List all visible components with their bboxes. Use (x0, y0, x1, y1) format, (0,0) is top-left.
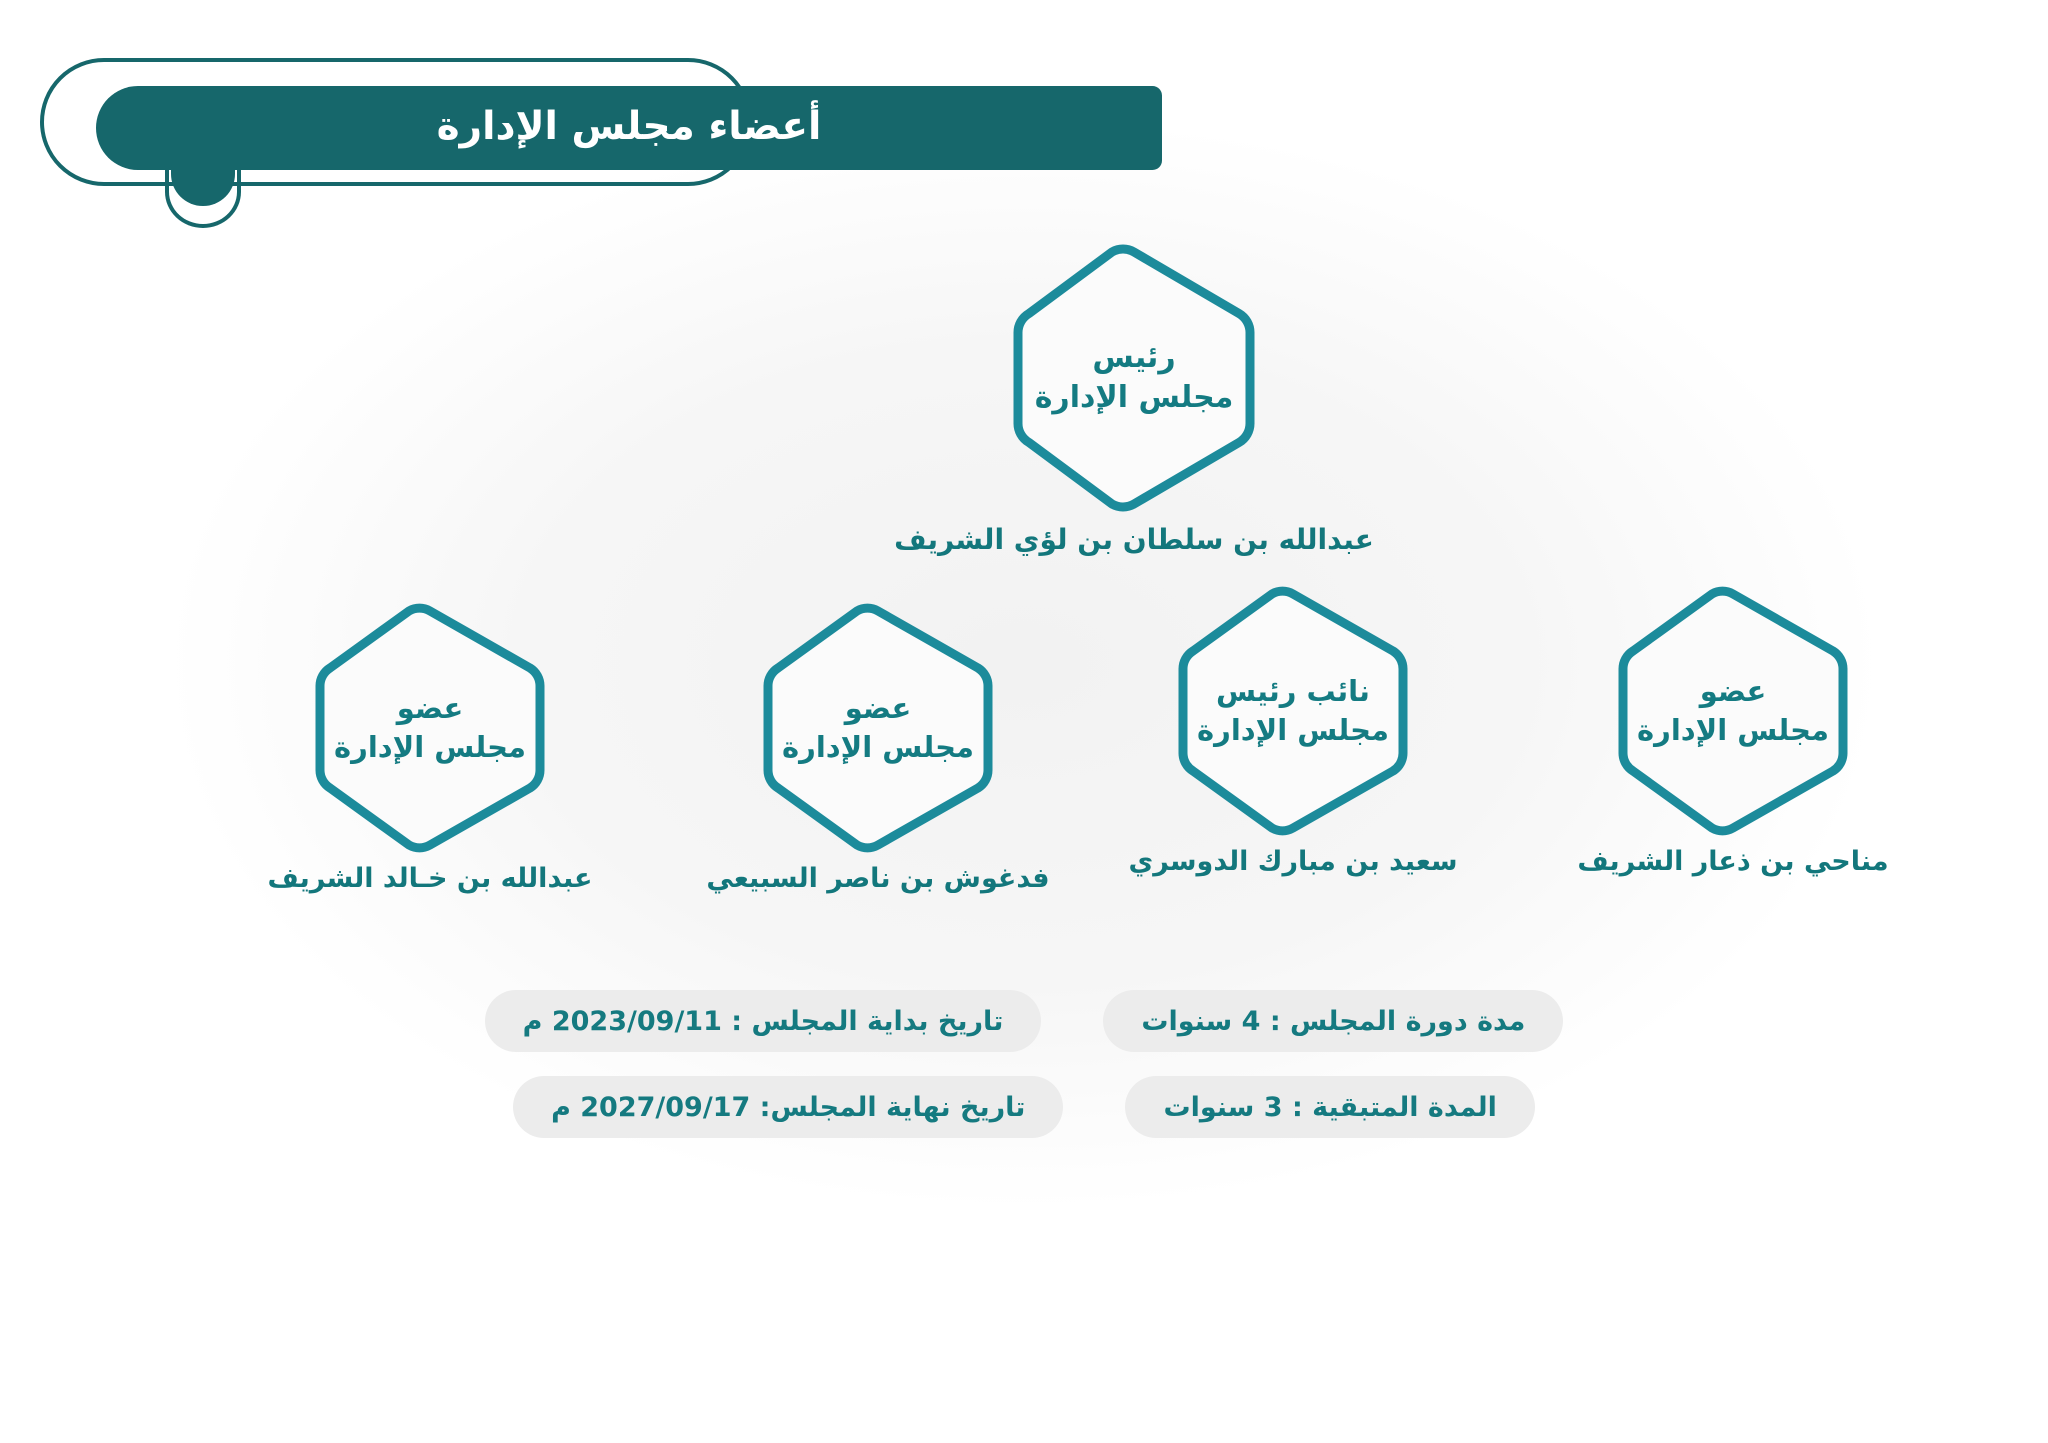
hexagon-shape: عضو مجلس الإدارة (311, 602, 549, 854)
end-date-pill: تاريخ نهاية المجلس: 2027/09/17 م (513, 1076, 1063, 1138)
title-bar: أعضاء مجلس الإدارة (96, 86, 1162, 170)
org-node-person-name: عبدالله بن خـالد الشريف (268, 864, 593, 894)
hexagon-shape: عضو مجلس الإدارة (759, 602, 997, 854)
org-node-vice-chairman[interactable]: نائب رئيس مجلس الإدارة سعيد بن مبارك الد… (1128, 585, 1458, 877)
info-row-1: مدة دورة المجلس : 4 سنوات تاريخ بداية ال… (0, 990, 2048, 1052)
org-node-role: عضو مجلس الإدارة (1637, 672, 1829, 750)
info-row-2: المدة المتبقية : 3 سنوات تاريخ نهاية الم… (0, 1076, 2048, 1138)
page-title: أعضاء مجلس الإدارة (437, 107, 822, 150)
org-node-role: رئيس مجلس الإدارة (1035, 338, 1234, 418)
org-node-person-name: فدغوش بن ناصر السبيعي (706, 864, 1049, 894)
org-node-role: نائب رئيس مجلس الإدارة (1197, 672, 1389, 750)
start-date-pill: تاريخ بداية المجلس : 2023/09/11 م (485, 990, 1042, 1052)
org-node-person-name: عبدالله بن سلطان بن لؤي الشريف (894, 525, 1374, 556)
hexagon-shape: عضو مجلس الإدارة (1614, 585, 1852, 837)
hexagon-shape: رئيس مجلس الإدارة (1009, 243, 1259, 513)
org-node-chairman[interactable]: رئيس مجلس الإدارة عبدالله بن سلطان بن لؤ… (899, 243, 1369, 556)
org-node-member-fadghoush[interactable]: عضو مجلس الإدارة فدغوش بن ناصر السبيعي (678, 602, 1078, 894)
remaining-duration-pill: المدة المتبقية : 3 سنوات (1125, 1076, 1535, 1138)
org-node-person-name: سعيد بن مبارك الدوسري (1128, 847, 1457, 877)
term-duration-pill: مدة دورة المجلس : 4 سنوات (1103, 990, 1563, 1052)
page-title-banner: أعضاء مجلس الإدارة (40, 58, 1150, 198)
org-node-member-manahi[interactable]: عضو مجلس الإدارة مناحي بن ذعار الشريف (1568, 585, 1898, 877)
board-info-pills: مدة دورة المجلس : 4 سنوات تاريخ بداية ال… (0, 990, 2048, 1162)
org-node-member-abdullah-khalid[interactable]: عضو مجلس الإدارة عبدالله بن خـالد الشريف (230, 602, 630, 894)
org-node-person-name: مناحي بن ذعار الشريف (1577, 847, 1888, 877)
org-node-role: عضو مجلس الإدارة (334, 689, 526, 767)
org-node-role: عضو مجلس الإدارة (782, 689, 974, 767)
hexagon-shape: نائب رئيس مجلس الإدارة (1174, 585, 1412, 837)
